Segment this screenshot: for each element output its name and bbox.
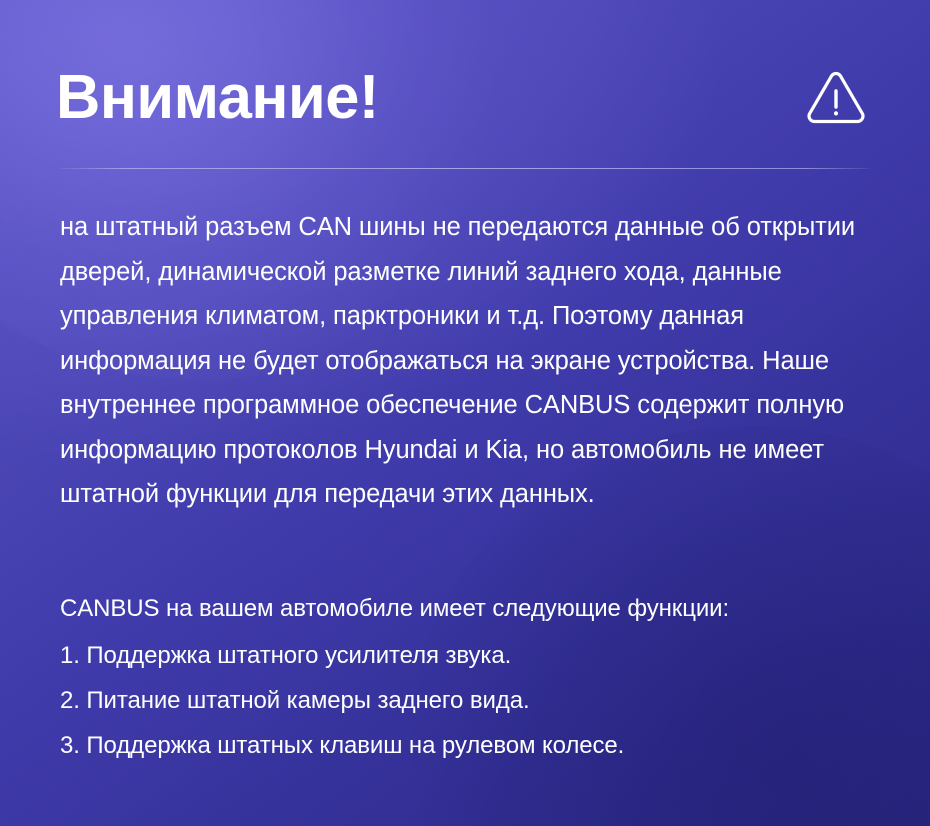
list-item: 3. Поддержка штатных клавиш на рулевом к… (60, 723, 890, 768)
list-item-label: Питание штатной камеры заднего вида. (86, 687, 529, 714)
list-item-label: Поддержка штатного усилителя звука. (86, 642, 511, 669)
list-item-number: 3. (60, 732, 86, 759)
notice-body: на штатный разъем CAN шины не передаются… (60, 205, 878, 517)
functions-section: CANBUS на вашем автомобиле имеет следующ… (60, 588, 890, 768)
warning-triangle-icon (804, 66, 868, 130)
header-divider (60, 168, 870, 169)
list-item: 2. Питание штатной камеры заднего вида. (60, 678, 890, 723)
page-title: Внимание! (56, 67, 379, 129)
list-item-number: 2. (60, 687, 86, 714)
list-item-number: 1. (60, 642, 86, 669)
warning-banner: Внимание! на штатный разъем CAN шины не … (0, 0, 930, 826)
banner-content: Внимание! на штатный разъем CAN шины не … (0, 0, 930, 826)
list-item: 1. Поддержка штатного усилителя звука. (60, 633, 890, 678)
functions-intro: CANBUS на вашем автомобиле имеет следующ… (60, 588, 890, 629)
functions-list: 1. Поддержка штатного усилителя звука. 2… (60, 633, 890, 768)
notice-paragraph: на штатный разъем CAN шины не передаются… (60, 205, 878, 517)
banner-header: Внимание! (56, 52, 874, 144)
list-item-label: Поддержка штатных клавиш на рулевом коле… (86, 732, 624, 759)
